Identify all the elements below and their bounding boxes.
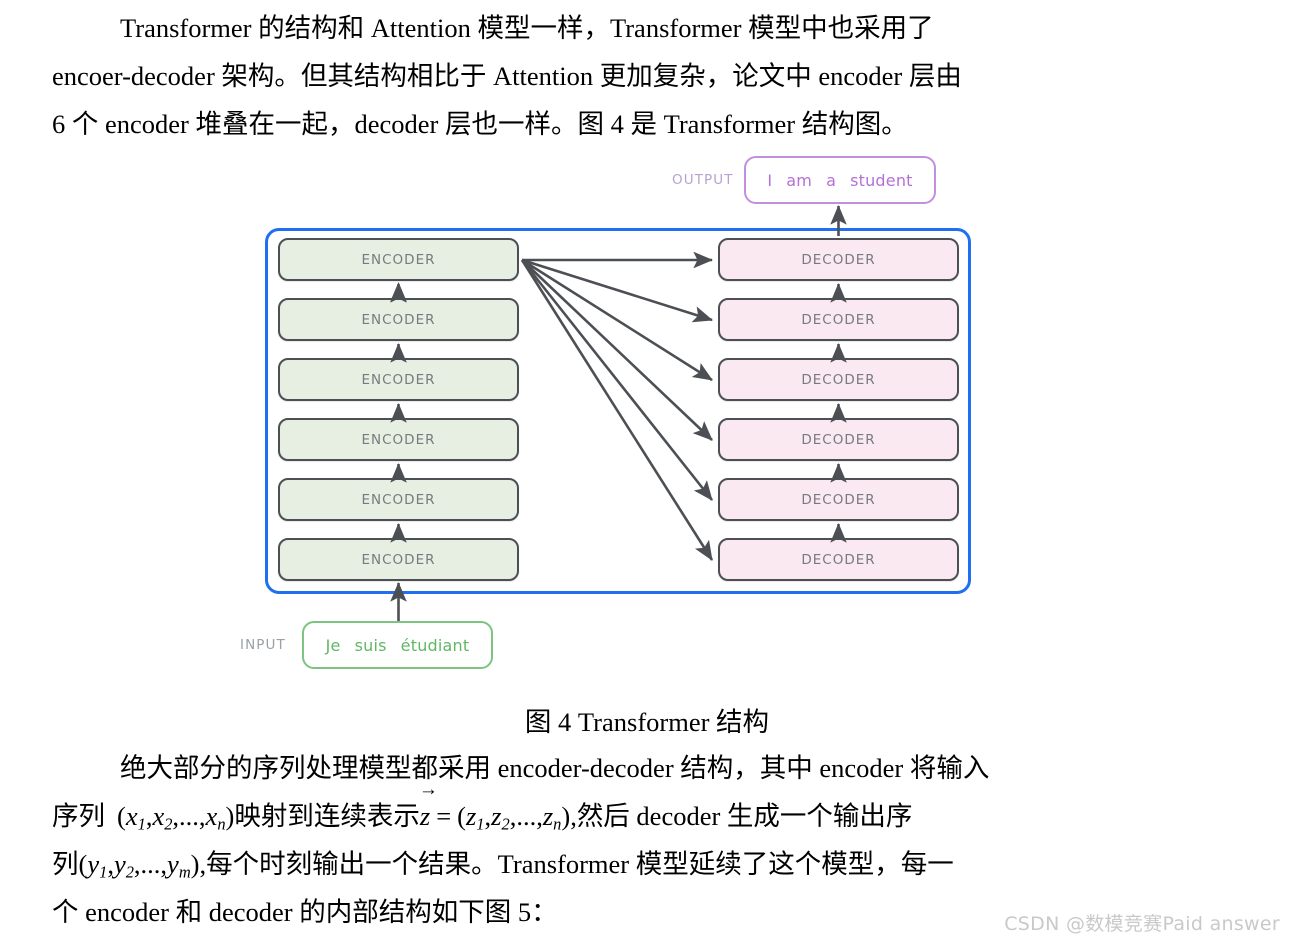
decoder-block-3-label: DECODER [801, 372, 875, 388]
transformer-architecture-figure: OUTPUT Iamastudent ENCODER ENCODER ENCOD… [0, 0, 1294, 700]
output-box: Iamastudent [744, 156, 936, 204]
line2-equals: = [436, 801, 451, 831]
encoder-block-5: ENCODER [278, 478, 519, 521]
z2-sub: 2 [501, 815, 509, 834]
line2-suffix: ,然后 decoder 生成一个输出序 [570, 801, 912, 831]
decoder-block-4: DECODER [718, 418, 959, 461]
output-token-2: a [826, 171, 836, 190]
decoder-block-2-label: DECODER [801, 312, 875, 328]
z1-sub: 1 [476, 815, 484, 834]
zn-var: z [543, 801, 553, 831]
encoder-block-1: ENCODER [278, 238, 519, 281]
decoder-block-5: DECODER [718, 478, 959, 521]
x2-var: x [152, 801, 164, 831]
paragraph-body-line-4: 个 encoder 和 decoder 的内部结构如下图 5： [52, 888, 989, 936]
xn-sub: n [217, 815, 225, 834]
decoder-block-6: DECODER [718, 538, 959, 581]
line3-open-paren: ( [79, 849, 88, 879]
line2-ellipsis-1: ,..., [172, 801, 205, 831]
encoder-block-2: ENCODER [278, 298, 519, 341]
csdn-watermark: CSDN @数模竞赛Paid answer [1004, 909, 1280, 936]
input-token-0: Je [326, 636, 341, 655]
decoder-block-1: DECODER [718, 238, 959, 281]
line3-close-paren: ) [191, 849, 200, 879]
z2-var: z [491, 801, 501, 831]
paragraph-body-line-1: 绝大部分的序列处理模型都采用 encoder-decoder 结构，其中 enc… [52, 744, 989, 792]
line3-comma-1: , [107, 849, 114, 879]
decoder-block-5-label: DECODER [801, 492, 875, 508]
output-tokens: Iamastudent [767, 171, 912, 190]
encoder-block-1-label: ENCODER [362, 252, 436, 268]
line2-ellipsis-2: ,..., [510, 801, 543, 831]
encoder-block-2-label: ENCODER [362, 312, 436, 328]
ym-sub: m [179, 863, 191, 882]
output-token-3: student [850, 171, 913, 190]
decoder-block-6-label: DECODER [801, 552, 875, 568]
encoder-block-6-label: ENCODER [362, 552, 436, 568]
z1-var: z [466, 801, 476, 831]
line2-z-close-paren: ) [561, 801, 570, 831]
z-var: z [420, 801, 430, 831]
line2-middle: 映射到连续表示 [234, 801, 420, 831]
line3-ellipsis: ,..., [134, 849, 167, 879]
encoder-block-6: ENCODER [278, 538, 519, 581]
encoder-block-3-label: ENCODER [362, 372, 436, 388]
ym-var: y [167, 849, 179, 879]
paragraph-body: 绝大部分的序列处理模型都采用 encoder-decoder 结构，其中 enc… [52, 744, 989, 936]
figure-caption: 图 4 Transformer 结构 [0, 700, 1294, 739]
y2-sub: 2 [126, 863, 134, 882]
y2-var: y [114, 849, 126, 879]
input-token-2: étudiant [401, 636, 470, 655]
decoder-block-1-label: DECODER [801, 252, 875, 268]
decoder-block-2: DECODER [718, 298, 959, 341]
line2-open-paren: ( [117, 801, 126, 831]
decoder-block-4-label: DECODER [801, 432, 875, 448]
input-label: INPUT [240, 637, 286, 653]
output-label: OUTPUT [672, 172, 734, 188]
vector-arrow-icon: → [419, 780, 439, 799]
encoder-block-4: ENCODER [278, 418, 519, 461]
encoder-block-5-label: ENCODER [362, 492, 436, 508]
x1-sub: 1 [138, 815, 146, 834]
input-box: Jesuisétudiant [302, 621, 493, 669]
encoder-block-3: ENCODER [278, 358, 519, 401]
line3-prefix: 列 [52, 849, 79, 879]
input-token-1: suis [355, 636, 387, 655]
line2-prefix: 序列 [52, 801, 105, 831]
z-vector: →z [420, 792, 430, 840]
encoder-block-4-label: ENCODER [362, 432, 436, 448]
paragraph-body-line-3: 列(y1,y2,...,ym),每个时刻输出一个结果。Transformer 模… [52, 840, 989, 888]
x1-var: x [126, 801, 138, 831]
paragraph-body-line-2: 序列(x1,x2,...,xn)映射到连续表示→z=(z1,z2,...,zn)… [52, 792, 989, 840]
decoder-block-3: DECODER [718, 358, 959, 401]
output-token-0: I [767, 171, 772, 190]
y1-var: y [87, 849, 99, 879]
line3-suffix: ,每个时刻输出一个结果。Transformer 模型延续了这个模型，每一 [200, 849, 954, 879]
line2-z-open-paren: ( [457, 801, 466, 831]
output-token-1: am [786, 171, 812, 190]
input-tokens: Jesuisétudiant [326, 636, 470, 655]
xn-var: x [206, 801, 218, 831]
